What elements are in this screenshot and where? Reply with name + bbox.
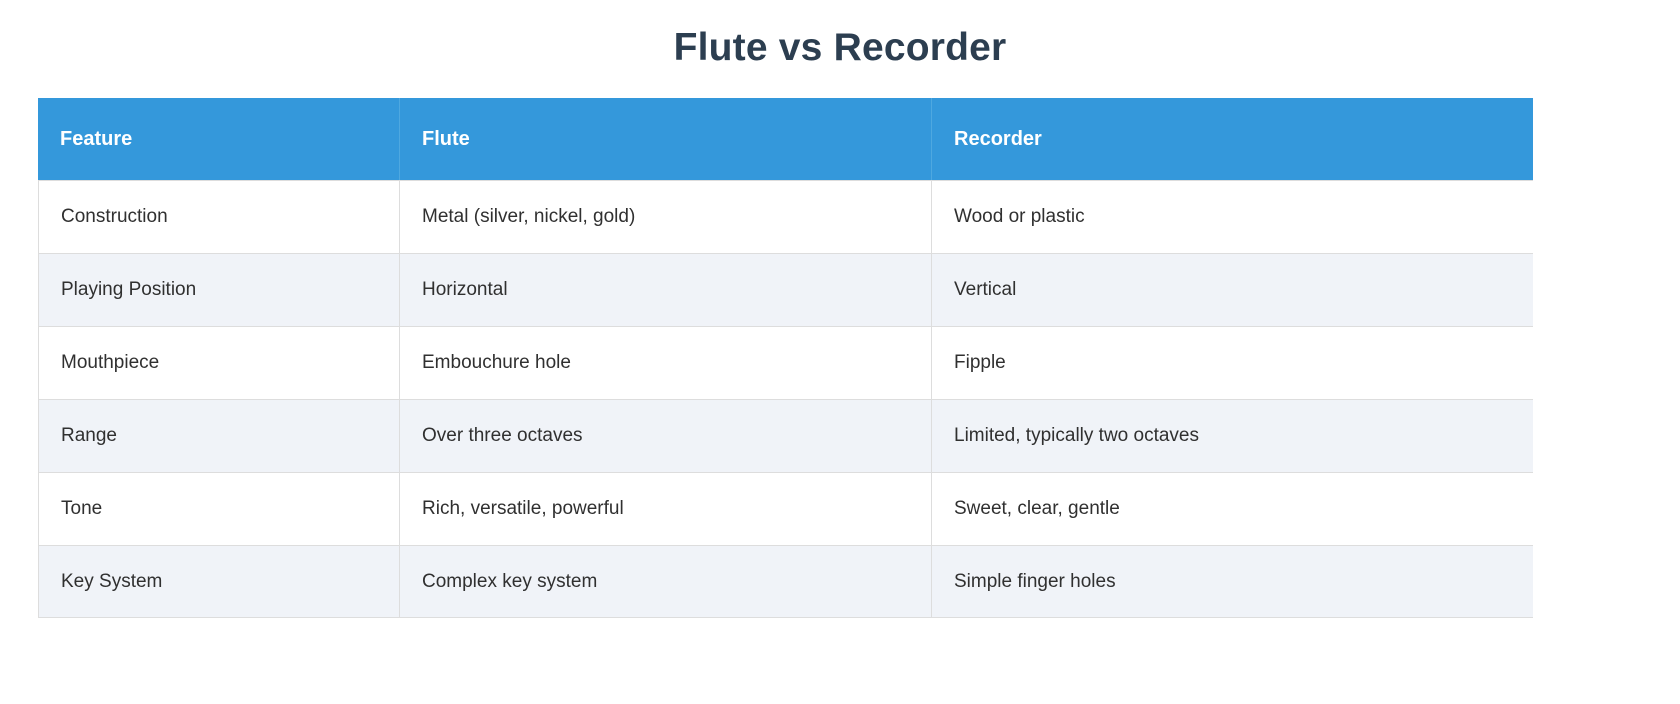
cell-flute: Rich, versatile, powerful xyxy=(400,472,932,545)
page-title: Flute vs Recorder xyxy=(0,0,1680,67)
cell-flute: Horizontal xyxy=(400,253,932,326)
table-row: Construction Metal (silver, nickel, gold… xyxy=(38,180,1533,253)
cell-feature: Playing Position xyxy=(38,253,400,326)
column-header-feature[interactable]: Feature xyxy=(38,98,400,180)
table-header-row: Feature Flute Recorder xyxy=(38,98,1533,180)
cell-recorder: Simple finger holes xyxy=(932,545,1533,618)
comparison-page: Flute vs Recorder Feature Flute Recorder… xyxy=(0,0,1680,704)
cell-recorder: Wood or plastic xyxy=(932,180,1533,253)
comparison-table-container: Feature Flute Recorder Construction Meta… xyxy=(38,98,1533,618)
table-row: Key System Complex key system Simple fin… xyxy=(38,545,1533,618)
table-body: Construction Metal (silver, nickel, gold… xyxy=(38,180,1533,618)
cell-flute: Complex key system xyxy=(400,545,932,618)
cell-feature: Construction xyxy=(38,180,400,253)
table-row: Mouthpiece Embouchure hole Fipple xyxy=(38,326,1533,399)
cell-flute: Embouchure hole xyxy=(400,326,932,399)
column-header-flute[interactable]: Flute xyxy=(400,98,932,180)
cell-flute: Over three octaves xyxy=(400,399,932,472)
cell-recorder: Vertical xyxy=(932,253,1533,326)
table-row: Playing Position Horizontal Vertical xyxy=(38,253,1533,326)
cell-recorder: Sweet, clear, gentle xyxy=(932,472,1533,545)
column-header-recorder[interactable]: Recorder xyxy=(932,98,1533,180)
table-header: Feature Flute Recorder xyxy=(38,98,1533,180)
cell-recorder: Fipple xyxy=(932,326,1533,399)
flute-vs-recorder-table: Feature Flute Recorder Construction Meta… xyxy=(38,98,1533,618)
cell-feature: Range xyxy=(38,399,400,472)
cell-recorder: Limited, typically two octaves xyxy=(932,399,1533,472)
table-row: Tone Rich, versatile, powerful Sweet, cl… xyxy=(38,472,1533,545)
cell-flute: Metal (silver, nickel, gold) xyxy=(400,180,932,253)
cell-feature: Mouthpiece xyxy=(38,326,400,399)
cell-feature: Tone xyxy=(38,472,400,545)
cell-feature: Key System xyxy=(38,545,400,618)
table-row: Range Over three octaves Limited, typica… xyxy=(38,399,1533,472)
